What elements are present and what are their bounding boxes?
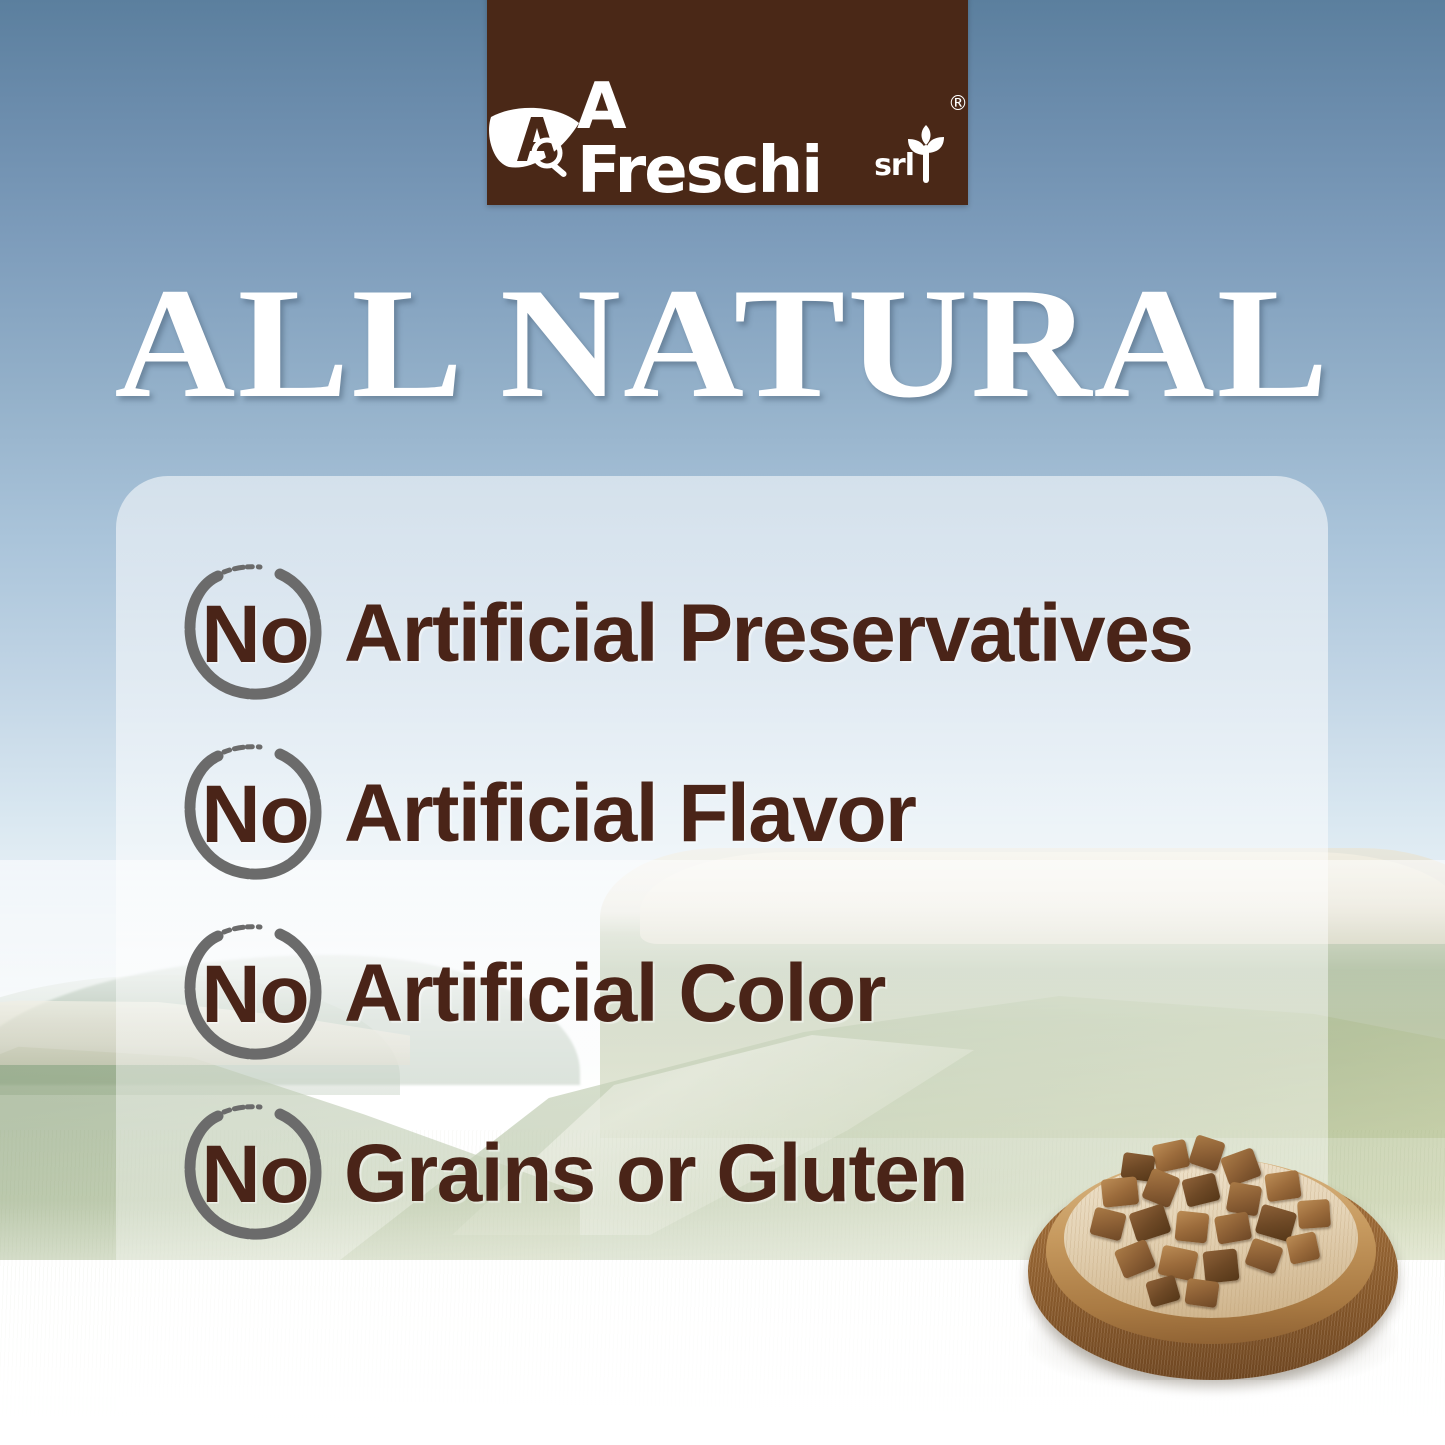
treat-piece (1184, 1278, 1219, 1308)
badge-label: No (201, 774, 308, 856)
treat-piece (1244, 1237, 1284, 1274)
no-circle-badge: No (176, 1098, 328, 1250)
treat-piece (1128, 1203, 1172, 1243)
list-item: No Artificial Preservatives (176, 554, 1436, 734)
list-item: No Artificial Color (176, 914, 1436, 1094)
badge-label: No (201, 594, 308, 676)
badge-label: No (201, 954, 308, 1036)
treat-piece (1157, 1245, 1198, 1282)
brand-name: A Freschi (577, 75, 878, 203)
product-image (1002, 1118, 1422, 1408)
no-circle-badge: No (176, 918, 328, 1070)
brand-logo-box: A Freschi srl ® (487, 0, 968, 205)
treat-piece (1214, 1211, 1252, 1244)
registered-trademark-icon: ® (948, 91, 968, 115)
brand-logo: A Freschi srl ® (487, 95, 968, 187)
leaf-magnifier-icon (487, 97, 587, 185)
treat-piece (1175, 1210, 1210, 1243)
treat-piece (1220, 1147, 1262, 1187)
treat-piece (1188, 1134, 1226, 1172)
pet-treats-pile (1062, 1138, 1362, 1318)
treat-piece (1297, 1199, 1331, 1229)
treat-piece (1181, 1172, 1221, 1207)
claim-label: Artificial Flavor (344, 773, 915, 855)
no-circle-badge: No (176, 558, 328, 710)
no-circle-badge: No (176, 738, 328, 890)
claim-label: Grains or Gluten (344, 1133, 967, 1215)
treat-piece (1114, 1239, 1157, 1280)
treat-piece (1089, 1207, 1127, 1242)
bottom-fade (0, 1380, 1445, 1445)
treat-piece (1264, 1170, 1302, 1202)
treat-piece (1145, 1274, 1181, 1307)
poster-canvas: A Freschi srl ® ALL NATURAL (0, 0, 1445, 1445)
claim-label: Artificial Preservatives (344, 593, 1192, 675)
claim-label: Artificial Color (344, 953, 885, 1035)
plant-sprout-icon (906, 125, 946, 185)
treat-piece (1101, 1176, 1140, 1208)
treat-piece (1202, 1248, 1239, 1283)
treat-piece (1151, 1139, 1190, 1173)
page-title: ALL NATURAL (0, 265, 1445, 423)
list-item: No Artificial Flavor (176, 734, 1436, 914)
treat-piece (1285, 1231, 1320, 1265)
badge-label: No (201, 1134, 308, 1216)
